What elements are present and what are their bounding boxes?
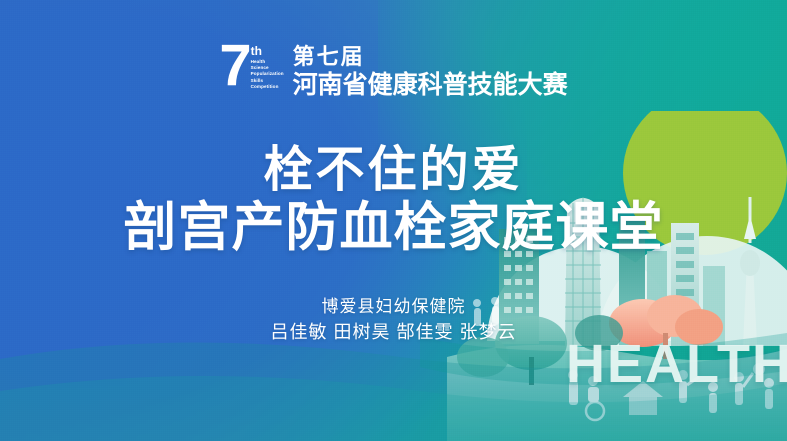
header-line-1: 第七届 [293, 44, 568, 70]
page-title: 栓不住的爱 剖宫产防血栓家庭课堂 [0, 142, 787, 258]
edition-numeral: 7 [219, 42, 249, 90]
logo-en-line-4: Competition [251, 84, 284, 90]
health-watermark: HEALTH [566, 337, 787, 391]
title-line-1: 栓不住的爱 [0, 142, 787, 198]
header-line-2: 河南省健康科普技能大赛 [293, 71, 568, 99]
edition-logo: 7 th Health Science Popularization Skill… [219, 42, 283, 90]
credits-block: 博爱县妇幼保健院 吕佳敏 田树昊 郜佳雯 张梦云 [0, 295, 787, 345]
credit-organization: 博爱县妇幼保健院 [0, 295, 787, 319]
credit-authors: 吕佳敏 田树昊 郜佳雯 张梦云 [0, 319, 787, 345]
event-header: 7 th Health Science Popularization Skill… [0, 42, 787, 99]
poster-canvas: HEALTH 7 th Health Science Popularizatio… [0, 0, 787, 441]
title-line-2: 剖宫产防血栓家庭课堂 [0, 198, 787, 258]
edition-ordinal: th [251, 45, 284, 57]
logo-english-lines: Health Science Popularization Skills Com… [251, 59, 284, 90]
